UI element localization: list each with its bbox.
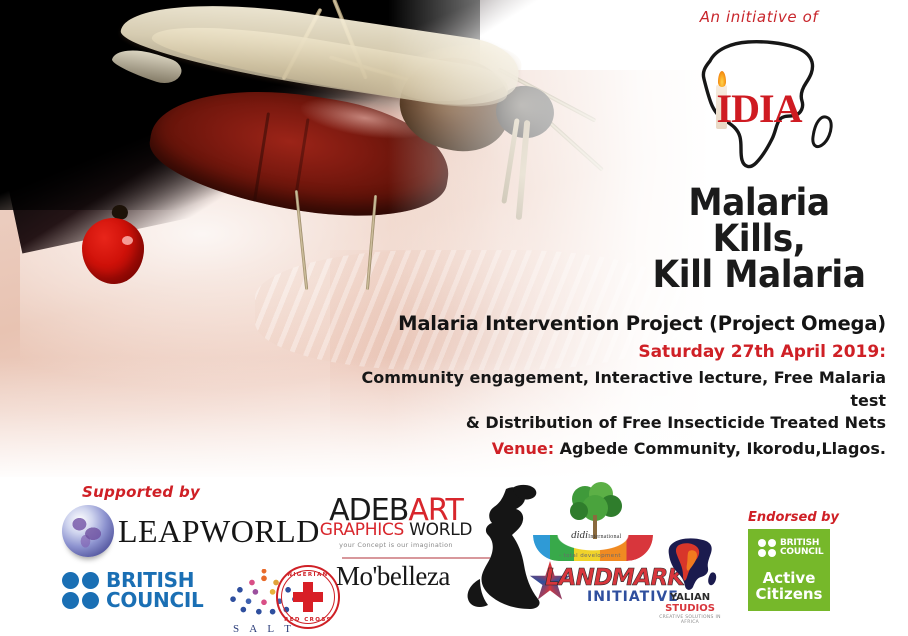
british-council-line-2: COUNCIL: [106, 590, 203, 610]
leapworld-wordmark: LEAPWORLD: [118, 513, 320, 550]
active-citizens-line-1: Active: [748, 570, 830, 586]
british-council-dots-icon: [62, 572, 99, 609]
red-cross-bottom-text: RED CROSS: [276, 617, 340, 623]
yalian-tagline: CREATIVE SOLUTIONS IN AFRICA: [652, 615, 728, 625]
supported-by-label: Supported by: [82, 483, 200, 501]
dancer-silhouette-icon: [462, 483, 548, 615]
event-details: Malaria Intervention Project (Project Om…: [326, 312, 886, 458]
logo-adebart: ADEBART GRAPHICS WORLD your Concept is o…: [316, 497, 476, 549]
blood-drop: [82, 218, 144, 284]
brand-block: An initiative of IDIA Malaria Kills, Kil…: [628, 8, 890, 293]
headline-line-2: Kill Malaria: [637, 257, 881, 293]
activities-line-1: Community engagement, Interactive lectur…: [326, 367, 886, 412]
active-citizens-line-2: Citizens: [748, 586, 830, 602]
idia-logo: IDIA: [664, 27, 854, 177]
logo-leapworld: LEAPWORLD: [62, 505, 320, 557]
studios-text: STUDIOS: [665, 603, 715, 614]
active-citizens-bc-wordmark: BRITISH COUNCIL: [780, 539, 823, 558]
ac-bc-line-2: COUNCIL: [780, 548, 823, 557]
yalian-text: YALIAN: [670, 592, 710, 603]
headline-line-1: Malaria Kills,: [637, 185, 881, 257]
africa-map-icon: [659, 535, 721, 591]
didi-text: didi: [571, 529, 588, 541]
british-council-wordmark: BRITISH COUNCIL: [106, 570, 203, 611]
british-council-dots-icon: [758, 539, 776, 557]
red-cross-icon: [293, 582, 323, 612]
project-title: Malaria Intervention Project (Project Om…: [326, 312, 886, 335]
poster-headline: Malaria Kills, Kill Malaria: [637, 185, 881, 293]
adebart-word-graphics: GRAPHICS: [320, 520, 404, 540]
initiative-label: An initiative of: [628, 8, 890, 26]
blood-drop-highlight: [122, 236, 133, 245]
malaria-awareness-poster: An initiative of IDIA Malaria Kills, Kil…: [0, 0, 908, 636]
venue-line: Venue: Agbede Community, Ikorodu,Llagos.: [326, 439, 886, 458]
logo-british-council: BRITISH COUNCIL: [62, 570, 203, 611]
venue-value: Agbede Community, Ikorodu,Llagos.: [560, 439, 886, 458]
logo-yalian-studios: YALIAN STUDIOS CREATIVE SOLUTIONS IN AFR…: [652, 535, 728, 625]
idia-wordmark: IDIA: [664, 89, 854, 129]
red-cross-top-text: NIGERIAN: [276, 572, 340, 578]
didi-wordmark: didiInternational: [571, 529, 621, 541]
globe-icon: [62, 505, 114, 557]
activities-line-2: & Distribution of Free Insecticide Treat…: [326, 412, 886, 435]
didi-tagline: - total development: [559, 553, 621, 559]
yalian-wordmark: YALIAN STUDIOS: [652, 592, 728, 614]
logo-nigerian-red-cross: NIGERIAN RED CROSS: [276, 565, 340, 629]
endorsed-by-label: Endorsed by: [748, 510, 839, 525]
flame-icon: [718, 71, 726, 87]
sponsor-strip: Supported by Endorsed by LEAPWORLD BRITI…: [0, 477, 908, 636]
adebart-tagline: your Concept is our imagination: [316, 541, 476, 549]
logo-active-citizens: BRITISH COUNCIL Active Citizens: [748, 529, 830, 611]
british-council-line-1: BRITISH: [106, 570, 203, 590]
adebart-row-2: GRAPHICS WORLD: [316, 522, 476, 539]
venue-label: Venue:: [492, 439, 554, 458]
didi-international-text: International: [588, 534, 621, 540]
active-citizens-british-council: BRITISH COUNCIL: [748, 529, 830, 558]
event-date: Saturday 27th April 2019:: [326, 342, 886, 362]
active-citizens-title: Active Citizens: [748, 570, 830, 602]
